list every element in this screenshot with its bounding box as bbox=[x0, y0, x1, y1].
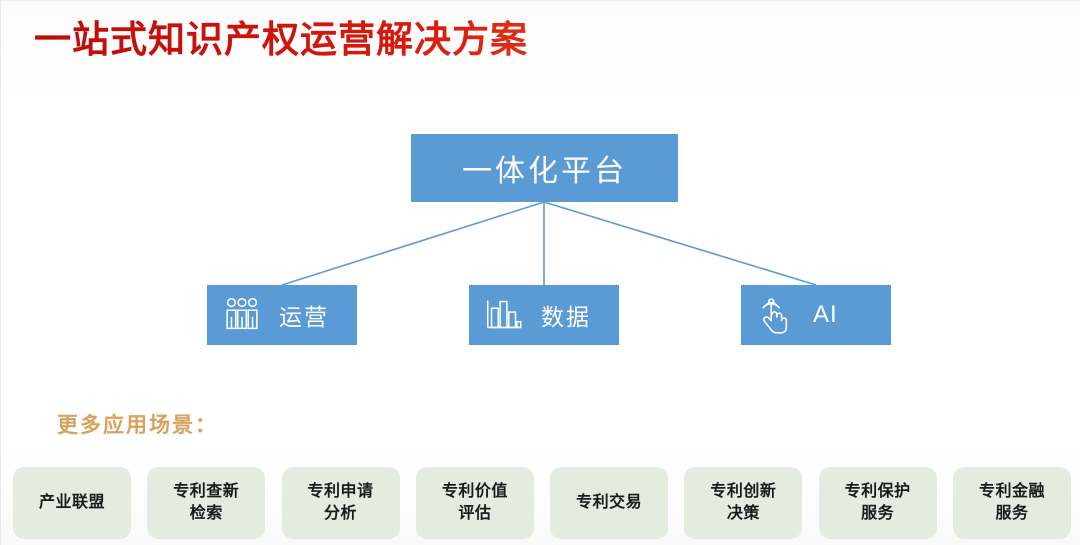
scenario-chip[interactable]: 专利价值 评估 bbox=[416, 467, 534, 539]
connector-line-left bbox=[282, 202, 544, 285]
node-ai[interactable]: AI bbox=[741, 285, 891, 345]
scenario-chip-label: 专利交易 bbox=[576, 492, 642, 514]
scenario-chip[interactable]: 专利创新 决策 bbox=[684, 467, 802, 539]
scenario-chip[interactable]: 专利交易 bbox=[550, 467, 668, 539]
node-platform-label: 一体化平台 bbox=[462, 146, 627, 190]
node-operation-label: 运营 bbox=[279, 298, 329, 332]
node-data-label: 数据 bbox=[541, 298, 591, 332]
architecture-diagram: 一体化平台 运营 bbox=[1, 1, 1080, 401]
scenario-chip[interactable]: 专利金融 服务 bbox=[953, 467, 1071, 539]
node-ai-label: AI bbox=[813, 301, 838, 329]
scenario-chip-label: 专利保护 服务 bbox=[845, 481, 911, 525]
scenario-chip[interactable]: 专利保护 服务 bbox=[819, 467, 937, 539]
scenario-chip-label: 产业联盟 bbox=[39, 492, 105, 514]
touch-hand-icon bbox=[753, 292, 799, 338]
node-operation[interactable]: 运营 bbox=[207, 285, 357, 345]
scenario-chip-row: 产业联盟 专利查新 检索 专利申请 分析 专利价值 评估 专利交易 专利创新 决… bbox=[13, 467, 1071, 539]
scenario-chip[interactable]: 专利查新 检索 bbox=[147, 467, 265, 539]
scenario-chip-label: 专利查新 检索 bbox=[173, 481, 239, 525]
node-data[interactable]: 数据 bbox=[469, 285, 619, 345]
bar-chart-icon bbox=[481, 292, 527, 338]
scenario-chip-label: 专利申请 分析 bbox=[308, 481, 374, 525]
three-people-icon bbox=[219, 292, 265, 338]
scenario-chip-label: 专利创新 决策 bbox=[710, 481, 776, 525]
slide-canvas: 一站式知识产权运营解决方案 一体化平台 bbox=[0, 0, 1080, 545]
node-platform[interactable]: 一体化平台 bbox=[411, 134, 678, 202]
scenario-chip[interactable]: 产业联盟 bbox=[13, 467, 131, 539]
scenario-chip[interactable]: 专利申请 分析 bbox=[282, 467, 400, 539]
scenario-chip-label: 专利金融 服务 bbox=[979, 481, 1045, 525]
scenario-chip-label: 专利价值 评估 bbox=[442, 481, 508, 525]
more-scenarios-label: 更多应用场景： bbox=[57, 409, 218, 439]
connector-line-right bbox=[544, 202, 816, 285]
